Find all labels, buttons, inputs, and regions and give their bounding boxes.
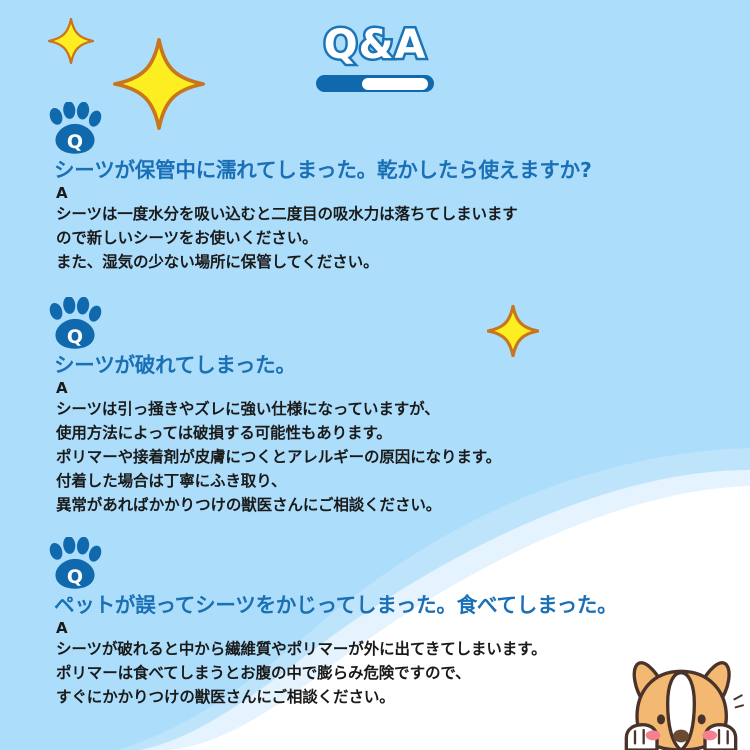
- answer-mark-2: A: [56, 379, 720, 398]
- progress-bar-knob: [362, 78, 428, 90]
- answer-line: シーツは引っ掻きやズレに強い仕様になっていますが、: [56, 397, 720, 421]
- answer-line: ので新しいシーツをお使いください。: [56, 226, 720, 250]
- qa-block-2: Q シーツが破れてしまった。 A シーツは引っ掻きやズレに強い仕様になっています…: [40, 297, 720, 517]
- paw-badge-3: Q: [46, 537, 104, 591]
- answer-line: 使用方法によっては破損する可能性もあります。: [56, 421, 720, 445]
- question-text-1: シーツが保管中に濡れてしまった。乾かしたら使えますか?: [54, 158, 720, 183]
- infographic-page: Q&A Q シーツが保管中に濡れてしまった。乾かしたら使えますか? A シーツは…: [0, 0, 750, 750]
- answer-line: ポリマーは食べてしまうとお腹の中で膨らみ危険ですので、: [56, 661, 720, 685]
- question-text-2: シーツが破れてしまった。: [54, 353, 720, 378]
- answer-line: また、湿気の少ない場所に保管してください。: [56, 250, 720, 274]
- question-text-3: ペットが誤ってシーツをかじってしまった。食べてしまった。: [54, 593, 720, 618]
- paw-badge-letter-2: Q: [46, 297, 104, 351]
- answer-line: 異常があればかかりつけの獣医さんにご相談ください。: [56, 493, 720, 517]
- title-block: Q&A: [0, 24, 750, 92]
- page-title: Q&A: [324, 24, 427, 66]
- answer-line: 付着した場合は丁寧にふき取り、: [56, 469, 720, 493]
- answer-body-3: シーツが破れると中から繊維質やポリマーが外に出てきてしまいます。 ポリマーは食べ…: [56, 637, 720, 709]
- paw-badge-letter-3: Q: [46, 537, 104, 591]
- paw-badge-2: Q: [46, 297, 104, 351]
- paw-badge-letter-1: Q: [46, 102, 104, 156]
- paw-badge-1: Q: [46, 102, 104, 156]
- answer-line: シーツが破れると中から繊維質やポリマーが外に出てきてしまいます。: [56, 637, 720, 661]
- answer-mark-3: A: [56, 619, 720, 638]
- answer-line: シーツは一度水分を吸い込むと二度目の吸水力は落ちてしまいます: [56, 202, 720, 226]
- qa-block-1: Q シーツが保管中に濡れてしまった。乾かしたら使えますか? A シーツは一度水分…: [40, 102, 720, 274]
- answer-body-1: シーツは一度水分を吸い込むと二度目の吸水力は落ちてしまいます ので新しいシーツを…: [56, 202, 720, 274]
- answer-line: すぐにかかりつけの獣医さんにご相談ください。: [56, 685, 720, 709]
- answer-body-2: シーツは引っ掻きやズレに強い仕様になっていますが、 使用方法によっては破損する可…: [56, 397, 720, 517]
- answer-line: ポリマーや接着剤が皮膚につくとアレルギーの原因になります。: [56, 445, 720, 469]
- qa-block-3: Q ペットが誤ってシーツをかじってしまった。食べてしまった。 A シーツが破れる…: [40, 537, 720, 709]
- progress-bar: [316, 75, 434, 92]
- answer-mark-1: A: [56, 184, 720, 203]
